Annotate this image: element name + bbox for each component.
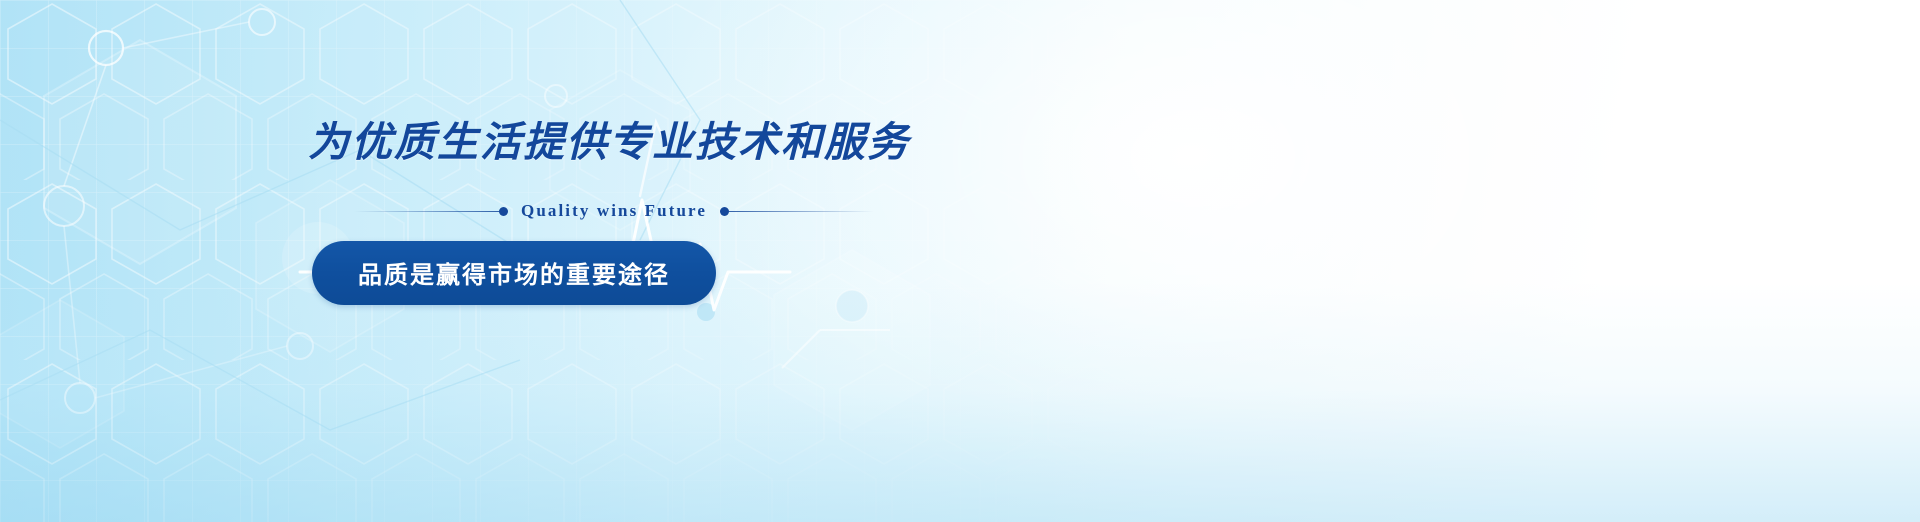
tagline-row: Quality wins Future [354, 201, 874, 221]
tagline-dot-right [720, 207, 729, 216]
pill-wrapper: 品质是赢得市场的重要途径 [308, 221, 1008, 305]
slogan-pill-button[interactable]: 品质是赢得市场的重要途径 [312, 241, 716, 305]
tagline-dot-left [499, 207, 508, 216]
tagline-rule-left [354, 211, 499, 212]
banner-headline: 为优质生活提供专业技术和服务 [308, 118, 1008, 166]
hero-banner: 为优质生活提供专业技术和服务 Quality wins Future 品质是赢得… [0, 0, 1920, 522]
banner-content: 为优质生活提供专业技术和服务 Quality wins Future 品质是赢得… [308, 118, 1008, 305]
background-bottom-shade [0, 282, 1920, 522]
tagline-rule-right [729, 211, 874, 212]
banner-tagline: Quality wins Future [508, 201, 720, 221]
